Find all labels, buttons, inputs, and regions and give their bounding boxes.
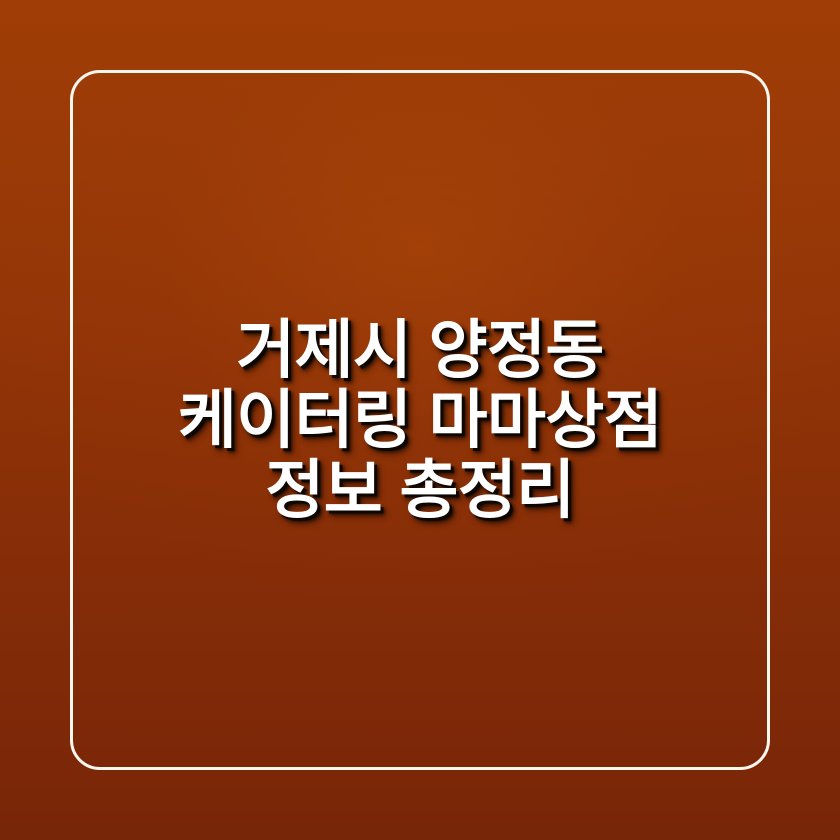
title-block: 거제시 양정동 케이터링 마마상점 정보 총정리 bbox=[0, 0, 840, 840]
poster-canvas: 거제시 양정동 케이터링 마마상점 정보 총정리 bbox=[0, 0, 840, 840]
title-line-1: 거제시 양정동 bbox=[86, 315, 754, 385]
title-line-2: 케이터링 마마상점 bbox=[86, 385, 754, 455]
title-line-3: 정보 총정리 bbox=[86, 455, 754, 525]
